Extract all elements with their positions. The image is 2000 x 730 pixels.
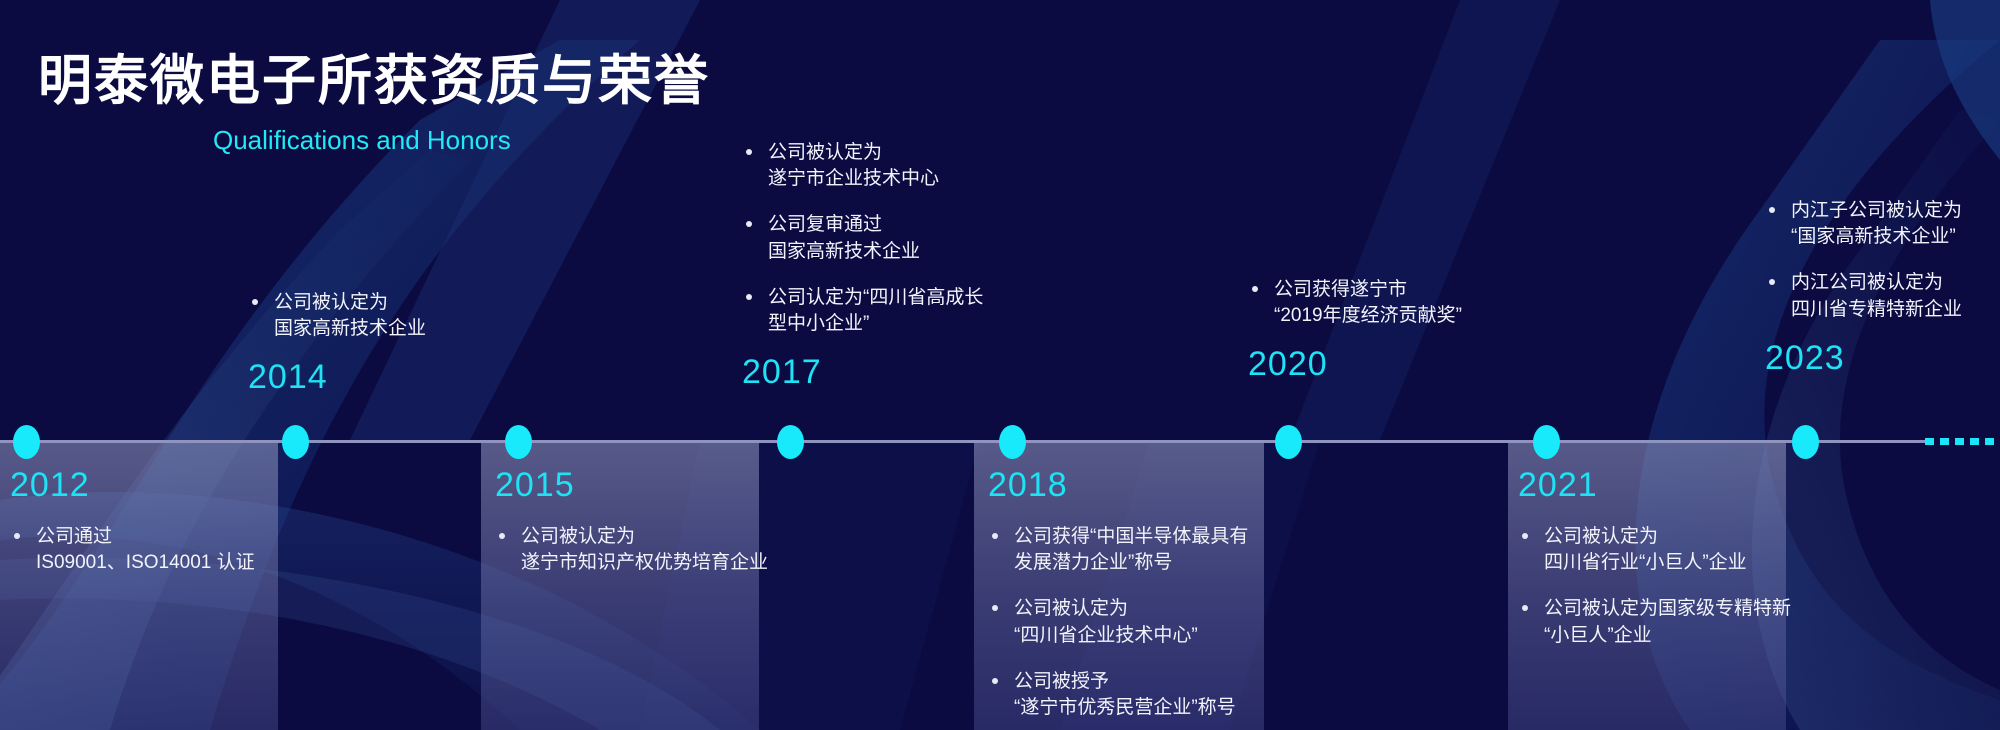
year-label-2015: 2015 — [495, 468, 768, 502]
list-item: 公司被认定为 “四川省企业技术中心” — [988, 596, 1248, 648]
timeline-entry-2018: 2018 公司获得“中国半导体最具有 发展潜力企业”称号 公司被认定为 “四川省… — [988, 468, 1248, 721]
timeline-axis-dashes — [1925, 438, 2000, 445]
list-item: 公司获得遂宁市 “2019年度经济贡献奖” — [1248, 277, 1462, 329]
bullet-list: 公司获得“中国半导体最具有 发展潜力企业”称号 公司被认定为 “四川省企业技术中… — [988, 524, 1248, 721]
bullet-dot-icon — [992, 678, 998, 684]
bullet-dot-icon — [14, 533, 20, 539]
bullet-dot-icon — [992, 533, 998, 539]
timeline-dot-2012[interactable] — [13, 425, 40, 459]
page-subtitle: Qualifications and Honors — [213, 125, 511, 156]
timeline-infographic: 明泰微电子所获资质与荣誉 Qualifications and Honors 公… — [0, 0, 2000, 730]
bullet-dot-icon — [1252, 286, 1258, 292]
list-item: 公司被认定为 国家高新技术企业 — [248, 290, 426, 342]
bullet-dot-icon — [1769, 279, 1775, 285]
list-item: 公司被授予 “遂宁市优秀民营企业”称号 — [988, 669, 1248, 721]
bullet-dot-icon — [746, 149, 752, 155]
bullet-list: 公司被认定为 国家高新技术企业 — [248, 290, 426, 342]
year-label-2017: 2017 — [742, 355, 983, 389]
year-label-2023: 2023 — [1765, 341, 1962, 375]
list-item: 公司被认定为 遂宁市企业技术中心 — [742, 140, 983, 192]
year-label-2014: 2014 — [248, 360, 426, 394]
list-item: 公司被认定为国家级专精特新 “小巨人”企业 — [1518, 596, 1791, 648]
timeline-entry-2023: 内江子公司被认定为 “国家高新技术企业” 内江公司被认定为 四川省专精特新企业 … — [1765, 198, 1962, 375]
bullet-dot-icon — [1522, 533, 1528, 539]
timeline-dot-2014[interactable] — [282, 425, 309, 459]
timeline-dot-2023[interactable] — [1792, 425, 1819, 459]
timeline-entry-2012: 2012 公司通过 IS09001、ISO14001 认证 — [10, 468, 255, 576]
list-item: 内江公司被认定为 四川省专精特新企业 — [1765, 270, 1962, 322]
list-item: 内江子公司被认定为 “国家高新技术企业” — [1765, 198, 1962, 250]
bullet-dot-icon — [1769, 207, 1775, 213]
bullet-list: 公司被认定为 四川省行业“小巨人”企业 公司被认定为国家级专精特新 “小巨人”企… — [1518, 524, 1791, 649]
year-label-2020: 2020 — [1248, 347, 1462, 381]
bullet-dot-icon — [992, 605, 998, 611]
bullet-list: 公司被认定为 遂宁市知识产权优势培育企业 — [495, 524, 768, 576]
bullet-dot-icon — [1522, 605, 1528, 611]
timeline-entry-2015: 2015 公司被认定为 遂宁市知识产权优势培育企业 — [495, 468, 768, 576]
bullet-list: 公司通过 IS09001、ISO14001 认证 — [10, 524, 255, 576]
year-label-2021: 2021 — [1518, 468, 1791, 502]
year-label-2018: 2018 — [988, 468, 1248, 502]
timeline-dot-2017[interactable] — [777, 425, 804, 459]
timeline-entry-2020: 公司获得遂宁市 “2019年度经济贡献奖” 2020 — [1248, 277, 1462, 381]
timeline-dot-2015[interactable] — [505, 425, 532, 459]
list-item: 公司复审通过 国家高新技术企业 — [742, 212, 983, 264]
bullet-list: 公司被认定为 遂宁市企业技术中心 公司复审通过 国家高新技术企业 公司认定为“四… — [742, 140, 983, 337]
timeline-dot-2018[interactable] — [999, 425, 1026, 459]
timeline-entry-2014: 公司被认定为 国家高新技术企业 2014 — [248, 290, 426, 394]
list-item: 公司被认定为 遂宁市知识产权优势培育企业 — [495, 524, 768, 576]
list-item: 公司获得“中国半导体最具有 发展潜力企业”称号 — [988, 524, 1248, 576]
timeline-dot-2021[interactable] — [1533, 425, 1560, 459]
bullet-dot-icon — [499, 533, 505, 539]
bullet-dot-icon — [746, 294, 752, 300]
bullet-list: 公司获得遂宁市 “2019年度经济贡献奖” — [1248, 277, 1462, 329]
year-label-2012: 2012 — [10, 468, 255, 502]
list-item: 公司被认定为 四川省行业“小巨人”企业 — [1518, 524, 1791, 576]
bullet-dot-icon — [746, 221, 752, 227]
list-item: 公司认定为“四川省高成长 型中小企业” — [742, 285, 983, 337]
timeline-entry-2017: 公司被认定为 遂宁市企业技术中心 公司复审通过 国家高新技术企业 公司认定为“四… — [742, 140, 983, 389]
timeline-dot-2020[interactable] — [1275, 425, 1302, 459]
page-title: 明泰微电子所获资质与荣誉 — [38, 36, 710, 115]
list-item: 公司通过 IS09001、ISO14001 认证 — [10, 524, 255, 576]
timeline-entry-2021: 2021 公司被认定为 四川省行业“小巨人”企业 公司被认定为国家级专精特新 “… — [1518, 468, 1791, 649]
bullet-dot-icon — [252, 299, 258, 305]
bullet-list: 内江子公司被认定为 “国家高新技术企业” 内江公司被认定为 四川省专精特新企业 — [1765, 198, 1962, 323]
